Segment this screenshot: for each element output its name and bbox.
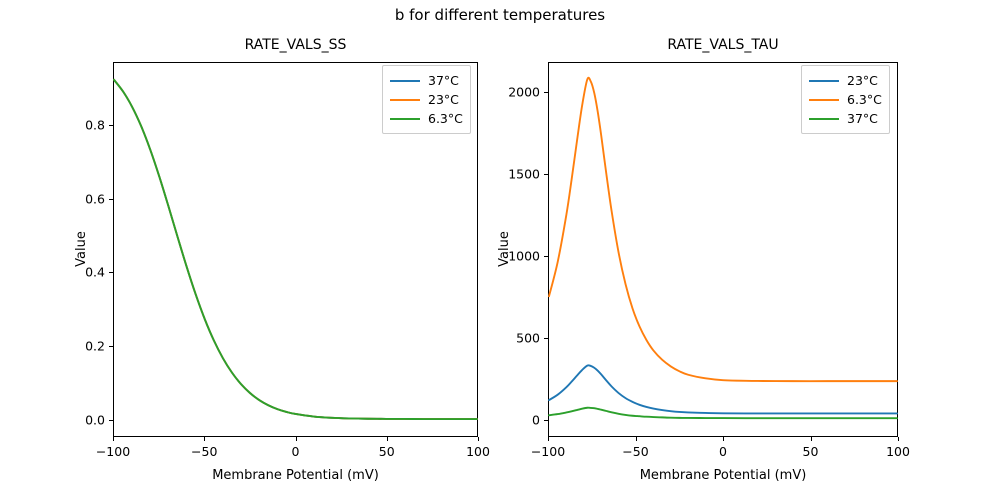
x-tick-label: −50	[622, 444, 648, 459]
legend-color-swatch	[390, 80, 420, 82]
y-tick-mark	[109, 420, 113, 421]
legend-color-swatch	[809, 99, 839, 101]
y-tick-label: 0.0	[23, 412, 105, 427]
legend-label: 23°C	[428, 92, 459, 107]
x-tick-label: 100	[466, 444, 490, 459]
y-tick-mark	[544, 92, 548, 93]
axes-right-title: RATE_VALS_TAU	[549, 37, 897, 53]
legend-color-swatch	[809, 80, 839, 82]
legend-label: 6.3°C	[847, 92, 882, 107]
x-tick-mark	[548, 437, 549, 441]
x-tick-mark	[204, 437, 205, 441]
axis-label-x-right: Membrane Potential (mV)	[548, 468, 898, 483]
legend-entry[interactable]: 37°C	[809, 109, 882, 128]
y-tick-label: 0.4	[23, 265, 105, 280]
y-tick-label: 1500	[458, 167, 540, 182]
y-tick-mark	[544, 256, 548, 257]
legend-label: 23°C	[847, 73, 878, 88]
y-tick-label: 500	[458, 331, 540, 346]
y-tick-label: 0	[458, 413, 540, 428]
x-tick-mark	[723, 437, 724, 441]
y-tick-mark	[544, 338, 548, 339]
axes-left-title: RATE_VALS_SS	[114, 37, 477, 53]
legend-label: 37°C	[847, 111, 878, 126]
figure-suptitle: b for different temperatures	[0, 6, 1000, 24]
x-tick-label: 100	[886, 444, 910, 459]
legend-entry[interactable]: 37°C	[390, 71, 463, 90]
x-tick-mark	[898, 437, 899, 441]
x-tick-label: 50	[803, 444, 819, 459]
x-tick-label: −50	[191, 444, 217, 459]
y-tick-label: 0.8	[23, 117, 105, 132]
legend-right[interactable]: 23°C6.3°C37°C	[801, 65, 890, 134]
legend-color-swatch	[390, 99, 420, 101]
x-tick-label: 50	[379, 444, 395, 459]
legend-color-swatch	[809, 118, 839, 120]
x-tick-mark	[811, 437, 812, 441]
y-tick-mark	[544, 420, 548, 421]
legend-entry[interactable]: 23°C	[809, 71, 882, 90]
line-series	[549, 365, 897, 413]
x-tick-mark	[478, 437, 479, 441]
x-tick-label: 0	[719, 444, 727, 459]
y-tick-mark	[109, 199, 113, 200]
y-tick-label: 0.2	[23, 339, 105, 354]
matplotlib-figure: b for different temperatures RATE_VALS_S…	[0, 0, 1000, 500]
axis-label-y-right: Value	[497, 231, 512, 267]
legend-label: 37°C	[428, 73, 459, 88]
legend-label: 6.3°C	[428, 111, 463, 126]
x-tick-label: 0	[292, 444, 300, 459]
axis-label-y-left: Value	[74, 231, 89, 267]
y-tick-label: 2000	[458, 85, 540, 100]
axis-label-x-left: Membrane Potential (mV)	[113, 468, 478, 483]
x-tick-mark	[387, 437, 388, 441]
legend-entry[interactable]: 23°C	[390, 90, 463, 109]
y-tick-mark	[109, 272, 113, 273]
legend-color-swatch	[390, 118, 420, 120]
legend-entry[interactable]: 6.3°C	[809, 90, 882, 109]
x-tick-mark	[113, 437, 114, 441]
x-tick-label: −100	[96, 444, 130, 459]
y-tick-mark	[109, 346, 113, 347]
x-tick-mark	[296, 437, 297, 441]
y-tick-mark	[109, 125, 113, 126]
y-tick-mark	[544, 174, 548, 175]
y-tick-label: 0.6	[23, 191, 105, 206]
legend-entry[interactable]: 6.3°C	[390, 109, 463, 128]
x-tick-mark	[636, 437, 637, 441]
x-tick-label: −100	[531, 444, 565, 459]
